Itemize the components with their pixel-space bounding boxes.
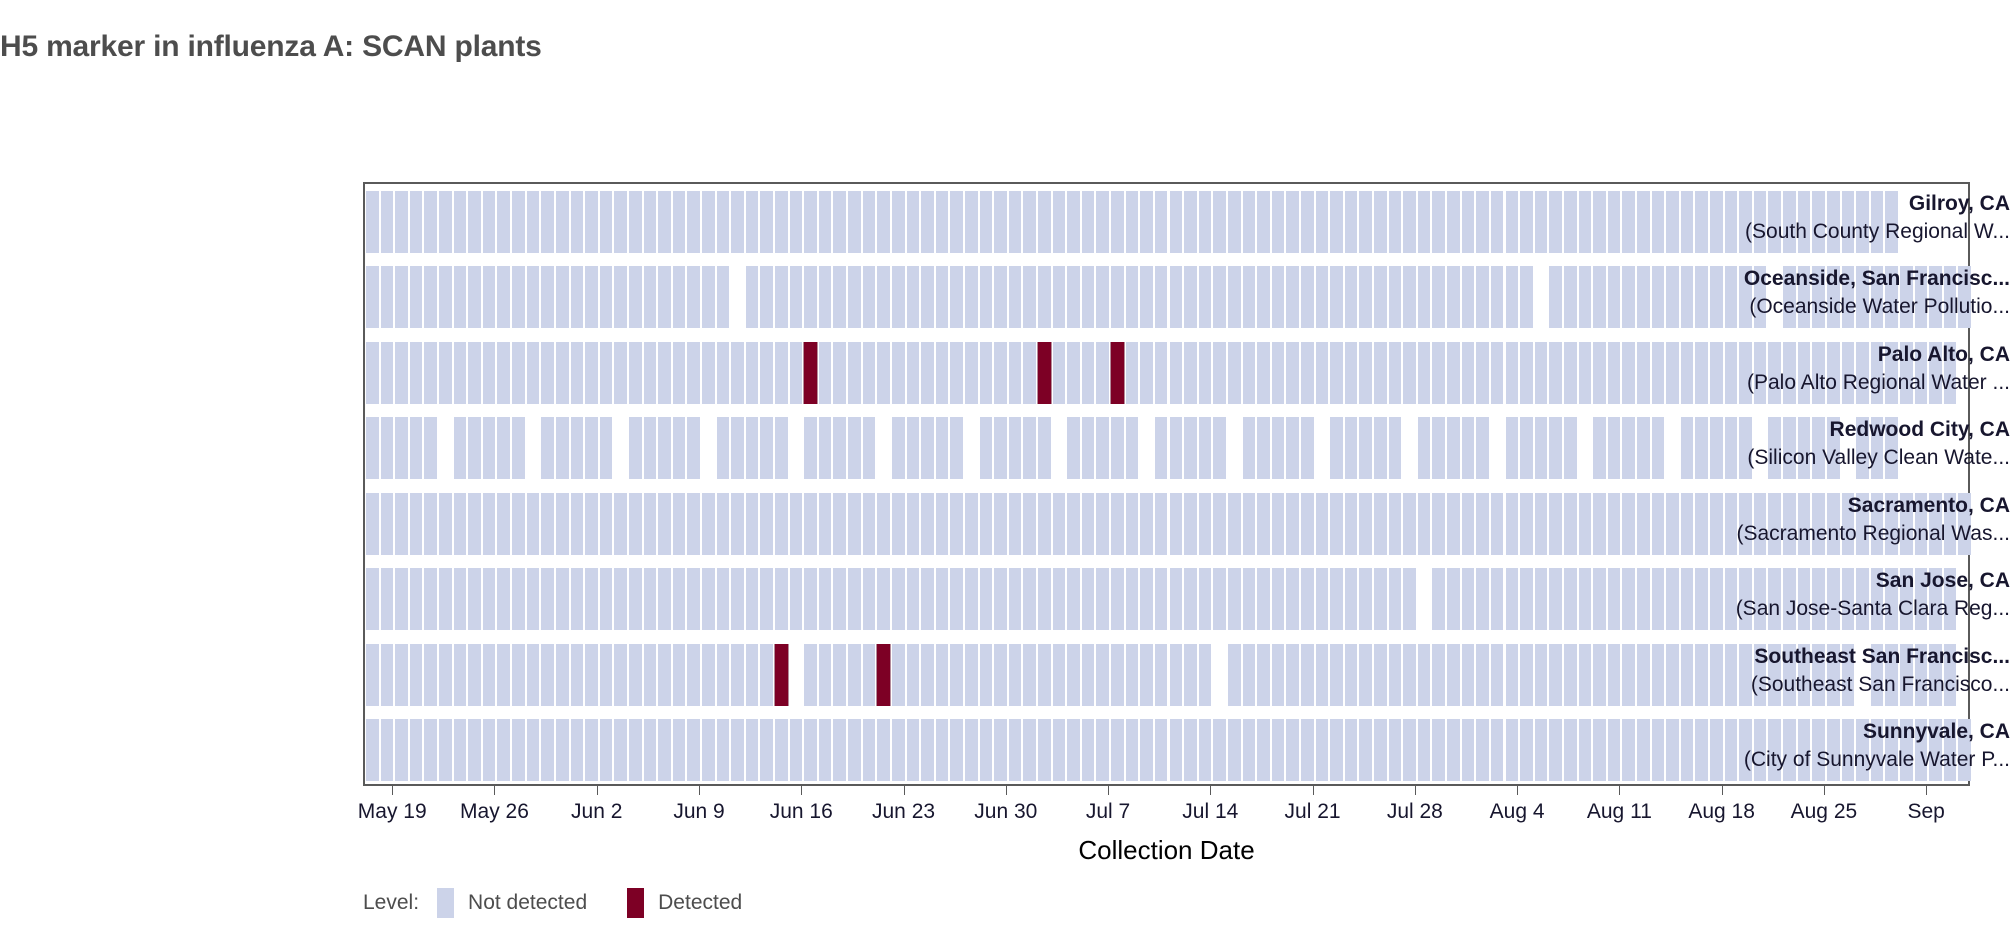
heatmap-cell-not-detected[interactable] [818,417,833,479]
heatmap-cell-not-detected[interactable] [555,644,570,706]
heatmap-cell-not-detected[interactable] [1154,493,1169,555]
heatmap-cell-not-detected[interactable] [409,493,424,555]
heatmap-cell-not-detected[interactable] [862,266,877,328]
heatmap-cell-not-detected[interactable] [1227,342,1242,404]
heatmap-cell-not-detected[interactable] [1592,266,1607,328]
heatmap-cell-not-detected[interactable] [832,568,847,630]
heatmap-cell-not-detected[interactable] [920,644,935,706]
heatmap-cell-not-detected[interactable] [1402,719,1417,781]
heatmap-cell-not-detected[interactable] [1300,644,1315,706]
heatmap-cell-not-detected[interactable] [1139,342,1154,404]
heatmap-cell-not-detected[interactable] [555,417,570,479]
heatmap-cell-not-detected[interactable] [832,493,847,555]
heatmap-cell-not-detected[interactable] [438,644,453,706]
heatmap-cell-not-detected[interactable] [1431,493,1446,555]
legend-item-2[interactable]: Detected [627,888,742,918]
heatmap-cell-not-detected[interactable] [1607,417,1622,479]
heatmap-cell-not-detected[interactable] [496,719,511,781]
heatmap-cell-not-detected[interactable] [1271,266,1286,328]
heatmap-cell-not-detected[interactable] [526,568,541,630]
heatmap-cell-not-detected[interactable] [1388,417,1403,479]
heatmap-cell-not-detected[interactable] [555,493,570,555]
heatmap-cell-not-detected[interactable] [1563,417,1578,479]
heatmap-cell-not-detected[interactable] [935,568,950,630]
heatmap-cell-not-detected[interactable] [979,266,994,328]
heatmap-cell-not-detected[interactable] [1139,266,1154,328]
heatmap-cell-not-detected[interactable] [1621,417,1636,479]
heatmap-cell-not-detected[interactable] [1227,191,1242,253]
heatmap-cell-not-detected[interactable] [1636,719,1651,781]
heatmap-cell-not-detected[interactable] [496,417,511,479]
heatmap-cell-not-detected[interactable] [1285,342,1300,404]
heatmap-cell-not-detected[interactable] [438,342,453,404]
heatmap-cell-not-detected[interactable] [1329,417,1344,479]
heatmap-cell-not-detected[interactable] [1169,342,1184,404]
heatmap-cell-not-detected[interactable] [584,493,599,555]
heatmap-cell-not-detected[interactable] [876,342,891,404]
heatmap-cell-not-detected[interactable] [511,644,526,706]
heatmap-cell-not-detected[interactable] [818,342,833,404]
heatmap-cell-not-detected[interactable] [774,568,789,630]
heatmap-cell-not-detected[interactable] [1431,266,1446,328]
heatmap-cell-not-detected[interactable] [1461,568,1476,630]
heatmap-cell-not-detected[interactable] [1169,191,1184,253]
heatmap-cell-not-detected[interactable] [672,191,687,253]
heatmap-cell-not-detected[interactable] [1315,266,1330,328]
heatmap-cell-not-detected[interactable] [1227,644,1242,706]
heatmap-cell-not-detected[interactable] [1300,417,1315,479]
heatmap-cell-not-detected[interactable] [467,417,482,479]
heatmap-cell-not-detected[interactable] [1446,644,1461,706]
heatmap-cell-not-detected[interactable] [1169,417,1184,479]
heatmap-cell-not-detected[interactable] [716,191,731,253]
heatmap-cell-not-detected[interactable] [716,719,731,781]
heatmap-cell-not-detected[interactable] [643,266,658,328]
heatmap-cell-not-detected[interactable] [949,644,964,706]
heatmap-cell-not-detected[interactable] [774,266,789,328]
heatmap-cell-not-detected[interactable] [1548,266,1563,328]
heatmap-cell-not-detected[interactable] [1358,191,1373,253]
heatmap-cell-not-detected[interactable] [1008,644,1023,706]
heatmap-cell-not-detected[interactable] [891,266,906,328]
heatmap-cell-not-detected[interactable] [1534,719,1549,781]
heatmap-cell-not-detected[interactable] [380,417,395,479]
heatmap-cell-not-detected[interactable] [803,191,818,253]
heatmap-cell-not-detected[interactable] [1095,342,1110,404]
heatmap-cell-not-detected[interactable] [599,644,614,706]
heatmap-cell-not-detected[interactable] [1446,719,1461,781]
heatmap-cell-not-detected[interactable] [701,191,716,253]
heatmap-cell-not-detected[interactable] [1358,644,1373,706]
heatmap-cell-not-detected[interactable] [774,191,789,253]
heatmap-cell-not-detected[interactable] [482,342,497,404]
heatmap-cell-not-detected[interactable] [511,417,526,479]
heatmap-cell-not-detected[interactable] [453,493,468,555]
heatmap-cell-not-detected[interactable] [438,266,453,328]
heatmap-cell-not-detected[interactable] [1022,644,1037,706]
heatmap-cell-not-detected[interactable] [1169,719,1184,781]
heatmap-cell-not-detected[interactable] [759,417,774,479]
heatmap-cell-not-detected[interactable] [438,719,453,781]
heatmap-cell-not-detected[interactable] [1475,644,1490,706]
heatmap-cell-not-detected[interactable] [467,493,482,555]
heatmap-cell-not-detected[interactable] [730,568,745,630]
heatmap-cell-not-detected[interactable] [1592,342,1607,404]
heatmap-cell-not-detected[interactable] [584,417,599,479]
heatmap-cell-not-detected[interactable] [920,493,935,555]
heatmap-cell-not-detected[interactable] [1358,342,1373,404]
heatmap-cell-not-detected[interactable] [686,719,701,781]
heatmap-cell-not-detected[interactable] [1548,417,1563,479]
heatmap-cell-not-detected[interactable] [730,493,745,555]
heatmap-cell-not-detected[interactable] [394,266,409,328]
heatmap-cell-not-detected[interactable] [599,568,614,630]
heatmap-cell-not-detected[interactable] [482,266,497,328]
heatmap-cell-not-detected[interactable] [716,266,731,328]
heatmap-cell-not-detected[interactable] [1271,719,1286,781]
heatmap-cell-not-detected[interactable] [906,266,921,328]
heatmap-cell-not-detected[interactable] [1095,493,1110,555]
heatmap-cell-not-detected[interactable] [570,719,585,781]
heatmap-cell-not-detected[interactable] [1505,342,1520,404]
heatmap-cell-not-detected[interactable] [1110,644,1125,706]
heatmap-cell-not-detected[interactable] [935,493,950,555]
heatmap-cell-not-detected[interactable] [1154,719,1169,781]
heatmap-cell-not-detected[interactable] [1095,191,1110,253]
heatmap-cell-not-detected[interactable] [380,644,395,706]
heatmap-cell-not-detected[interactable] [832,342,847,404]
heatmap-cell-not-detected[interactable] [862,342,877,404]
heatmap-cell-not-detected[interactable] [453,191,468,253]
heatmap-cell-not-detected[interactable] [1461,719,1476,781]
heatmap-cell-not-detected[interactable] [511,266,526,328]
heatmap-cell-not-detected[interactable] [1548,719,1563,781]
heatmap-cell-not-detected[interactable] [701,568,716,630]
heatmap-cell-not-detected[interactable] [949,266,964,328]
heatmap-cell-not-detected[interactable] [1183,493,1198,555]
heatmap-cell-not-detected[interactable] [1183,644,1198,706]
heatmap-cell-not-detected[interactable] [803,493,818,555]
heatmap-cell-not-detected[interactable] [467,342,482,404]
heatmap-cell-not-detected[interactable] [803,417,818,479]
heatmap-cell-not-detected[interactable] [1636,493,1651,555]
heatmap-cell-not-detected[interactable] [467,719,482,781]
heatmap-cell-not-detected[interactable] [628,417,643,479]
heatmap-cell-not-detected[interactable] [1271,493,1286,555]
heatmap-cell-not-detected[interactable] [628,644,643,706]
heatmap-cell-not-detected[interactable] [745,266,760,328]
heatmap-cell-not-detected[interactable] [1037,568,1052,630]
heatmap-cell-not-detected[interactable] [1578,568,1593,630]
heatmap-cell-not-detected[interactable] [1008,266,1023,328]
heatmap-cell-not-detected[interactable] [672,493,687,555]
heatmap-cell-not-detected[interactable] [759,342,774,404]
heatmap-cell-not-detected[interactable] [993,568,1008,630]
heatmap-cell-not-detected[interactable] [1373,191,1388,253]
heatmap-cell-not-detected[interactable] [570,342,585,404]
heatmap-cell-not-detected[interactable] [423,266,438,328]
heatmap-cell-not-detected[interactable] [1388,493,1403,555]
heatmap-cell-not-detected[interactable] [949,719,964,781]
heatmap-cell-not-detected[interactable] [1534,644,1549,706]
heatmap-cell-not-detected[interactable] [964,644,979,706]
heatmap-cell-not-detected[interactable] [1110,493,1125,555]
heatmap-cell-not-detected[interactable] [1490,342,1505,404]
heatmap-cell-not-detected[interactable] [1081,266,1096,328]
heatmap-cell-not-detected[interactable] [540,644,555,706]
heatmap-cell-not-detected[interactable] [701,342,716,404]
heatmap-cell-not-detected[interactable] [1154,417,1169,479]
heatmap-cell-not-detected[interactable] [540,568,555,630]
heatmap-cell-not-detected[interactable] [1490,719,1505,781]
heatmap-cell-not-detected[interactable] [496,568,511,630]
heatmap-cell-not-detected[interactable] [1008,191,1023,253]
heatmap-cell-not-detected[interactable] [613,568,628,630]
heatmap-cell-not-detected[interactable] [686,568,701,630]
heatmap-cell-not-detected[interactable] [979,719,994,781]
heatmap-cell-not-detected[interactable] [1475,493,1490,555]
heatmap-cell-not-detected[interactable] [628,342,643,404]
heatmap-cell-not-detected[interactable] [1358,493,1373,555]
heatmap-cell-not-detected[interactable] [1212,266,1227,328]
heatmap-cell-not-detected[interactable] [1022,191,1037,253]
heatmap-cell-not-detected[interactable] [1008,568,1023,630]
heatmap-cell-not-detected[interactable] [1022,493,1037,555]
heatmap-cell-not-detected[interactable] [876,493,891,555]
heatmap-cell-not-detected[interactable] [1446,493,1461,555]
heatmap-cell-not-detected[interactable] [599,266,614,328]
heatmap-cell-not-detected[interactable] [701,266,716,328]
heatmap-cell-not-detected[interactable] [380,493,395,555]
heatmap-cell-not-detected[interactable] [496,644,511,706]
heatmap-cell-not-detected[interactable] [1139,493,1154,555]
heatmap-cell-not-detected[interactable] [1183,266,1198,328]
heatmap-cell-not-detected[interactable] [1402,568,1417,630]
heatmap-cell-not-detected[interactable] [657,417,672,479]
heatmap-cell-not-detected[interactable] [876,266,891,328]
heatmap-cell-not-detected[interactable] [570,644,585,706]
heatmap-cell-not-detected[interactable] [365,191,380,253]
heatmap-cell-not-detected[interactable] [803,644,818,706]
heatmap-cell-not-detected[interactable] [1022,719,1037,781]
heatmap-cell-not-detected[interactable] [1125,417,1140,479]
heatmap-cell-not-detected[interactable] [672,342,687,404]
heatmap-cell-not-detected[interactable] [1475,417,1490,479]
heatmap-cell-not-detected[interactable] [1461,191,1476,253]
heatmap-cell-not-detected[interactable] [540,417,555,479]
heatmap-cell-not-detected[interactable] [1315,342,1330,404]
heatmap-cell-not-detected[interactable] [1198,191,1213,253]
heatmap-cell-not-detected[interactable] [643,568,658,630]
heatmap-cell-not-detected[interactable] [1300,719,1315,781]
heatmap-cell-not-detected[interactable] [935,266,950,328]
heatmap-cell-not-detected[interactable] [920,568,935,630]
heatmap-cell-not-detected[interactable] [1578,644,1593,706]
heatmap-cell-not-detected[interactable] [511,719,526,781]
heatmap-cell-not-detected[interactable] [453,719,468,781]
heatmap-cell-not-detected[interactable] [1198,417,1213,479]
heatmap-cell-not-detected[interactable] [496,342,511,404]
heatmap-cell-detected[interactable] [1110,342,1125,404]
heatmap-cell-not-detected[interactable] [759,493,774,555]
heatmap-cell-not-detected[interactable] [1183,417,1198,479]
heatmap-cell-not-detected[interactable] [1373,417,1388,479]
heatmap-cell-not-detected[interactable] [1461,342,1476,404]
heatmap-cell-not-detected[interactable] [409,191,424,253]
heatmap-cell-not-detected[interactable] [1052,493,1067,555]
heatmap-cell-not-detected[interactable] [1329,342,1344,404]
heatmap-cell-not-detected[interactable] [1388,568,1403,630]
heatmap-cell-not-detected[interactable] [1636,266,1651,328]
heatmap-cell-not-detected[interactable] [453,568,468,630]
heatmap-cell-not-detected[interactable] [1037,266,1052,328]
heatmap-cell-not-detected[interactable] [759,568,774,630]
heatmap-cell-not-detected[interactable] [906,417,921,479]
heatmap-cell-not-detected[interactable] [1388,342,1403,404]
heatmap-cell-not-detected[interactable] [993,644,1008,706]
heatmap-cell-not-detected[interactable] [1066,644,1081,706]
heatmap-cell-not-detected[interactable] [891,644,906,706]
heatmap-cell-not-detected[interactable] [1066,719,1081,781]
heatmap-cell-not-detected[interactable] [1183,342,1198,404]
heatmap-cell-not-detected[interactable] [1431,342,1446,404]
heatmap-cell-not-detected[interactable] [745,342,760,404]
heatmap-cell-not-detected[interactable] [1592,719,1607,781]
heatmap-cell-not-detected[interactable] [380,719,395,781]
heatmap-cell-not-detected[interactable] [862,568,877,630]
heatmap-cell-not-detected[interactable] [935,719,950,781]
heatmap-cell-not-detected[interactable] [1621,191,1636,253]
heatmap-cell-not-detected[interactable] [1125,719,1140,781]
heatmap-cell-not-detected[interactable] [1227,568,1242,630]
heatmap-cell-not-detected[interactable] [570,266,585,328]
heatmap-cell-not-detected[interactable] [832,266,847,328]
heatmap-cell-not-detected[interactable] [686,342,701,404]
heatmap-cell-not-detected[interactable] [1446,266,1461,328]
heatmap-cell-not-detected[interactable] [1592,191,1607,253]
heatmap-cell-not-detected[interactable] [949,342,964,404]
heatmap-cell-not-detected[interactable] [657,568,672,630]
heatmap-cell-not-detected[interactable] [1475,568,1490,630]
heatmap-cell-not-detected[interactable] [467,568,482,630]
heatmap-cell-not-detected[interactable] [1110,417,1125,479]
heatmap-cell-not-detected[interactable] [1300,342,1315,404]
heatmap-cell-not-detected[interactable] [1417,719,1432,781]
heatmap-cell-not-detected[interactable] [1431,644,1446,706]
heatmap-cell-not-detected[interactable] [1358,568,1373,630]
heatmap-cell-not-detected[interactable] [686,191,701,253]
heatmap-cell-not-detected[interactable] [672,644,687,706]
heatmap-cell-not-detected[interactable] [949,568,964,630]
heatmap-cell-not-detected[interactable] [789,342,804,404]
heatmap-cell-not-detected[interactable] [876,568,891,630]
heatmap-cell-not-detected[interactable] [1519,342,1534,404]
heatmap-cell-not-detected[interactable] [832,644,847,706]
heatmap-cell-not-detected[interactable] [1125,493,1140,555]
heatmap-cell-not-detected[interactable] [1388,266,1403,328]
heatmap-cell-not-detected[interactable] [1183,719,1198,781]
heatmap-cell-not-detected[interactable] [993,342,1008,404]
heatmap-cell-not-detected[interactable] [832,417,847,479]
heatmap-cell-not-detected[interactable] [1066,191,1081,253]
heatmap-cell-not-detected[interactable] [365,644,380,706]
heatmap-cell-not-detected[interactable] [847,719,862,781]
heatmap-cell-not-detected[interactable] [891,493,906,555]
heatmap-cell-not-detected[interactable] [891,719,906,781]
heatmap-cell-not-detected[interactable] [1548,493,1563,555]
heatmap-cell-not-detected[interactable] [789,493,804,555]
heatmap-cell-not-detected[interactable] [1373,568,1388,630]
heatmap-cell-not-detected[interactable] [1563,719,1578,781]
heatmap-cell-not-detected[interactable] [891,342,906,404]
heatmap-cell-not-detected[interactable] [409,417,424,479]
heatmap-cell-not-detected[interactable] [394,644,409,706]
heatmap-cell-not-detected[interactable] [409,266,424,328]
heatmap-cell-not-detected[interactable] [1037,644,1052,706]
heatmap-cell-not-detected[interactable] [862,719,877,781]
heatmap-cell-not-detected[interactable] [686,493,701,555]
heatmap-cell-not-detected[interactable] [1475,719,1490,781]
heatmap-cell-not-detected[interactable] [1081,191,1096,253]
heatmap-cell-not-detected[interactable] [1475,342,1490,404]
heatmap-cell-not-detected[interactable] [1548,568,1563,630]
heatmap-cell-not-detected[interactable] [584,342,599,404]
heatmap-cell-not-detected[interactable] [920,719,935,781]
heatmap-cell-not-detected[interactable] [862,417,877,479]
heatmap-cell-not-detected[interactable] [1344,493,1359,555]
heatmap-cell-not-detected[interactable] [1519,417,1534,479]
heatmap-cell-not-detected[interactable] [482,417,497,479]
heatmap-cell-not-detected[interactable] [1242,191,1257,253]
heatmap-cell-not-detected[interactable] [1169,493,1184,555]
heatmap-cell-not-detected[interactable] [1417,417,1432,479]
heatmap-cell-not-detected[interactable] [745,417,760,479]
heatmap-cell-not-detected[interactable] [526,493,541,555]
heatmap-cell-not-detected[interactable] [1519,266,1534,328]
heatmap-cell-not-detected[interactable] [1519,493,1534,555]
heatmap-cell-not-detected[interactable] [701,719,716,781]
heatmap-cell-not-detected[interactable] [584,266,599,328]
heatmap-cell-not-detected[interactable] [1242,644,1257,706]
heatmap-cell-not-detected[interactable] [891,417,906,479]
heatmap-cell-not-detected[interactable] [1285,417,1300,479]
heatmap-cell-not-detected[interactable] [1490,266,1505,328]
heatmap-cell-not-detected[interactable] [862,644,877,706]
heatmap-cell-not-detected[interactable] [1285,719,1300,781]
heatmap-cell-not-detected[interactable] [1534,417,1549,479]
heatmap-cell-not-detected[interactable] [1300,191,1315,253]
heatmap-cell-not-detected[interactable] [1242,719,1257,781]
heatmap-cell-not-detected[interactable] [1081,644,1096,706]
heatmap-cell-not-detected[interactable] [1212,191,1227,253]
heatmap-cell-not-detected[interactable] [613,493,628,555]
heatmap-cell-not-detected[interactable] [832,191,847,253]
heatmap-cell-not-detected[interactable] [570,493,585,555]
heatmap-cell-not-detected[interactable] [555,266,570,328]
heatmap-cell-not-detected[interactable] [1461,644,1476,706]
heatmap-cell-not-detected[interactable] [1052,342,1067,404]
heatmap-cell-not-detected[interactable] [832,719,847,781]
heatmap-cell-not-detected[interactable] [1110,191,1125,253]
heatmap-cell-not-detected[interactable] [1242,342,1257,404]
heatmap-cell-not-detected[interactable] [643,493,658,555]
heatmap-cell-not-detected[interactable] [774,719,789,781]
heatmap-cell-not-detected[interactable] [1037,719,1052,781]
heatmap-cell-not-detected[interactable] [1636,568,1651,630]
heatmap-cell-not-detected[interactable] [628,191,643,253]
heatmap-cell-not-detected[interactable] [438,493,453,555]
heatmap-cell-not-detected[interactable] [818,719,833,781]
